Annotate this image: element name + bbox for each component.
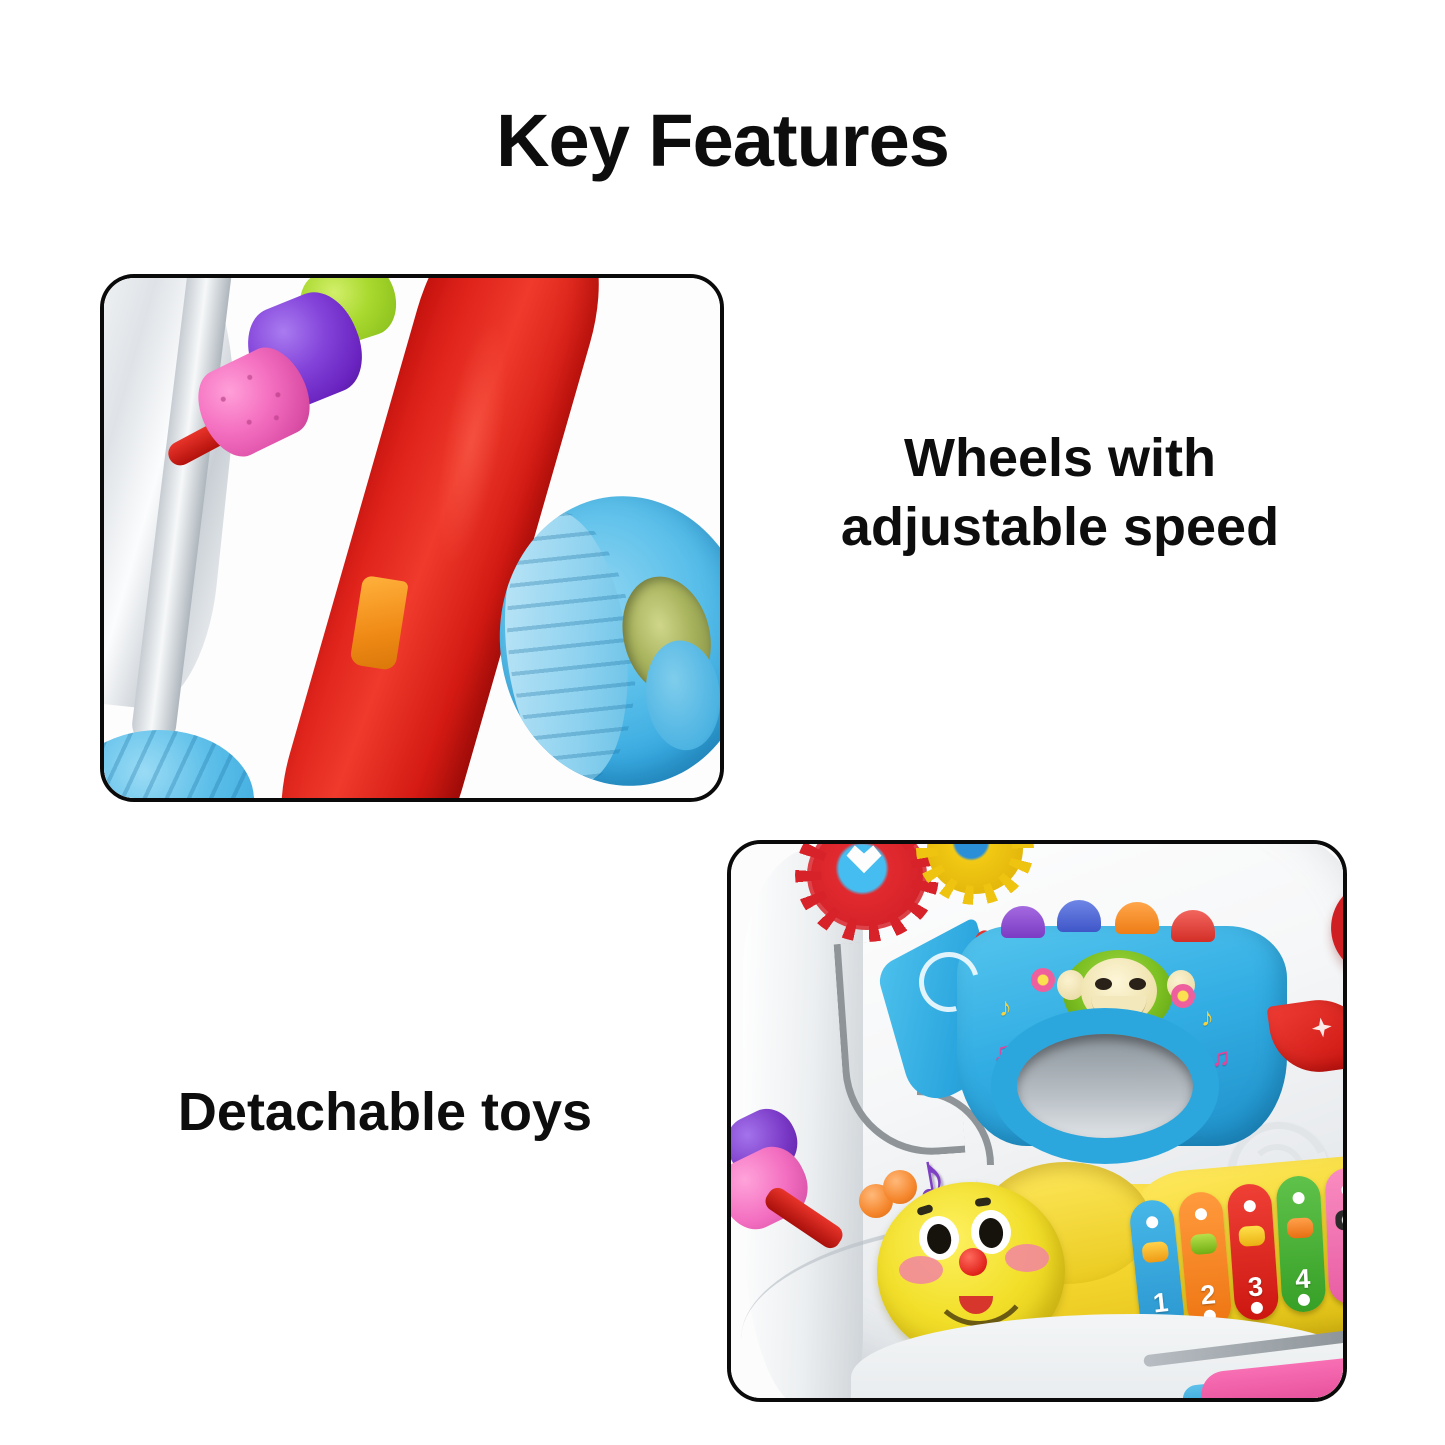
xylophone-key-5-icon <box>1335 1210 1343 1231</box>
feature-card-wheels[interactable] <box>100 274 724 802</box>
phone-note-decal-1: ♪ <box>999 992 1012 1023</box>
wheels-photo <box>104 278 720 798</box>
xylophone-key-4: 4 <box>1275 1175 1326 1313</box>
feature-card-toys[interactable]: ♫ ✦ ♪ ♪ ♫ ♪ ♫ <box>727 840 1347 1402</box>
toys-photo: ♫ ✦ ♪ ♪ ♫ ♪ ♫ <box>731 844 1343 1398</box>
xylophone-key-3-number: 3 <box>1232 1270 1278 1304</box>
xylophone-key-4-icon <box>1287 1217 1314 1238</box>
phone-handle-hole <box>1017 1034 1193 1138</box>
yellow-gear-toy <box>927 844 1023 894</box>
flower-decal-left <box>1031 968 1055 992</box>
phone-note-decal-2: ♫ <box>993 1036 1013 1067</box>
xylophone-key-1-icon <box>1141 1241 1169 1264</box>
xylophone-key-3-icon <box>1238 1225 1265 1247</box>
phone-note-decal-4: ♫ <box>1211 1042 1231 1073</box>
red-gear-toy <box>807 844 927 930</box>
xylophone-key-3: 3 <box>1226 1183 1279 1322</box>
xylophone-key-4-number: 4 <box>1280 1263 1326 1296</box>
xylophone-key-2-icon <box>1190 1233 1218 1255</box>
second-wheel-shape <box>104 730 254 798</box>
page-title: Key Features <box>0 104 1445 178</box>
caption-wheels: Wheels with adjustable speed <box>820 424 1300 562</box>
monkey-eye-right <box>1129 978 1146 990</box>
caption-toys: Detachable toys <box>100 1078 670 1147</box>
xylophone-key-5-number: 5 <box>1328 1255 1343 1288</box>
flower-decal-right <box>1171 984 1195 1008</box>
phone-note-decal-3: ♪ <box>1201 1002 1214 1033</box>
xylophone-key-2-number: 2 <box>1185 1278 1232 1313</box>
monkey-eye-left <box>1095 978 1112 990</box>
